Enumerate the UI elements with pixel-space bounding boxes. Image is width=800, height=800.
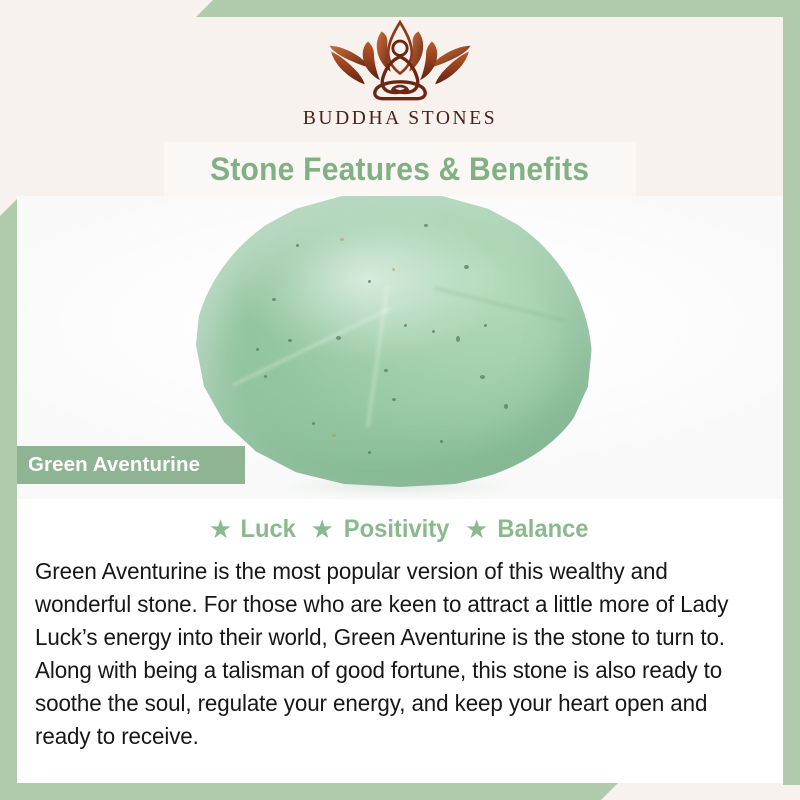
stone-speckle [484,324,487,327]
stone-speckle [336,336,341,340]
benefit-item-positivity: ★ Positivity [311,515,452,544]
stone-speckle [480,375,485,379]
stone-speckle [264,375,267,378]
stone-speckle [440,440,443,443]
stone-speckle [332,434,336,437]
benefits-row: ★ Luck ★ Positivity ★ Balance [17,515,783,544]
stone-speckle [256,348,259,351]
title-banner: Stone Features & Benefits [164,142,636,196]
stone-speckle [288,339,292,342]
star-icon: ★ [465,516,488,542]
stone-name-bar: Green Aventurine [17,446,245,484]
star-icon: ★ [311,516,334,542]
content-panel: ★ Luck ★ Positivity ★ Balance Green Aven… [17,499,783,783]
star-icon: ★ [209,516,232,542]
stone-speckle [464,265,469,269]
stone-speckle [432,330,435,333]
lotus-meditation-icon [316,18,484,102]
benefit-label: Positivity [344,515,450,544]
stone-description: Green Aventurine is the most popular ver… [35,555,739,753]
green-aventurine-stone-image [192,196,592,487]
stone-speckle [368,280,371,283]
benefit-label: Luck [241,515,296,544]
page-title: Stone Features & Benefits [210,151,589,188]
stone-speckle [384,369,388,372]
stone-speckle [456,336,460,342]
infographic-page: BUDDHA STONES Stone Features & Benefits [0,0,800,800]
stone-speckle [424,224,428,227]
stone-name: Green Aventurine [28,453,200,477]
frame-band-left [0,199,17,800]
stone-speckle [368,451,371,454]
stone-speckle [296,244,299,247]
stone-speckle [312,422,315,425]
stone-facet-seam [434,287,567,322]
stone-speckle [392,398,396,401]
stone-speckle [404,324,407,327]
brand-header: BUDDHA STONES [0,0,800,142]
brand-name: BUDDHA STONES [303,108,497,130]
stone-facet-seam [232,306,391,385]
frame-band-bottom [0,783,618,800]
stone-body [192,196,592,487]
stone-facet-seam [366,286,389,427]
benefit-label: Balance [498,515,589,544]
stone-speckle [392,268,395,271]
stone-speckle [504,404,508,409]
stone-speckle [272,298,276,301]
benefit-item-luck: ★ Luck [209,515,298,544]
stone-speckle [340,238,344,241]
benefit-item-balance: ★ Balance [465,515,591,544]
